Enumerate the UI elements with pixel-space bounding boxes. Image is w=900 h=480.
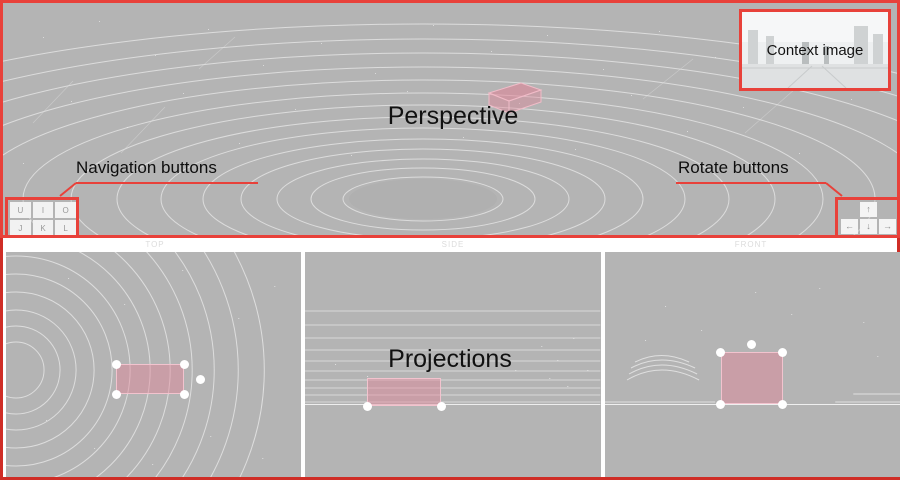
side-view-bounding-box[interactable] [367,378,441,406]
nav-key-u[interactable]: U [10,202,31,218]
rotate-down-icon[interactable]: ↓ [860,219,877,234]
projection-label-top: TOP [6,238,304,252]
projection-label-front: FRONT [602,238,900,252]
rotate-up-icon[interactable]: ↑ [860,202,877,217]
navigation-callout-label: Navigation buttons [76,158,217,178]
perspective-viewport[interactable]: Perspective [0,0,900,238]
nav-key-j[interactable]: J [10,220,31,236]
projection-panel-labels: TOP SIDE FRONT [6,238,900,252]
nav-key-k[interactable]: K [33,220,54,236]
context-image-panel[interactable]: Context image [739,9,891,91]
side-view-handle-br[interactable] [437,402,446,411]
rotate-right-icon[interactable]: → [879,219,896,234]
lidar-annotation-viewer: Perspective [0,0,900,480]
top-view-rotation-handle[interactable] [196,375,205,384]
front-view-handle-bl[interactable] [716,400,725,409]
context-image-label: Context image [742,12,888,88]
projection-label-side: SIDE [304,238,602,252]
top-view-handle-br[interactable] [180,390,189,399]
top-view-handle-bl[interactable] [112,390,121,399]
rotate-callout-label: Rotate buttons [678,158,789,178]
nav-key-l[interactable]: L [55,220,76,236]
perspective-label: Perspective [3,102,900,131]
side-view-handle-bl[interactable] [363,402,372,411]
projections-label: Projections [3,345,897,374]
projections-strip: TOP SIDE FRONT [0,238,900,480]
rotate-buttons-group[interactable]: ↑ ← ↓ → [835,197,900,238]
rotate-keypad[interactable]: ↑ ← ↓ → [840,202,898,236]
nav-key-i[interactable]: I [33,202,54,218]
navigation-buttons-group[interactable]: U I O J K L [5,197,79,238]
rotate-left-icon[interactable]: ← [841,219,858,234]
front-view-handle-br[interactable] [778,400,787,409]
navigation-keypad[interactable]: U I O J K L [10,202,76,236]
nav-key-o[interactable]: O [55,202,76,218]
